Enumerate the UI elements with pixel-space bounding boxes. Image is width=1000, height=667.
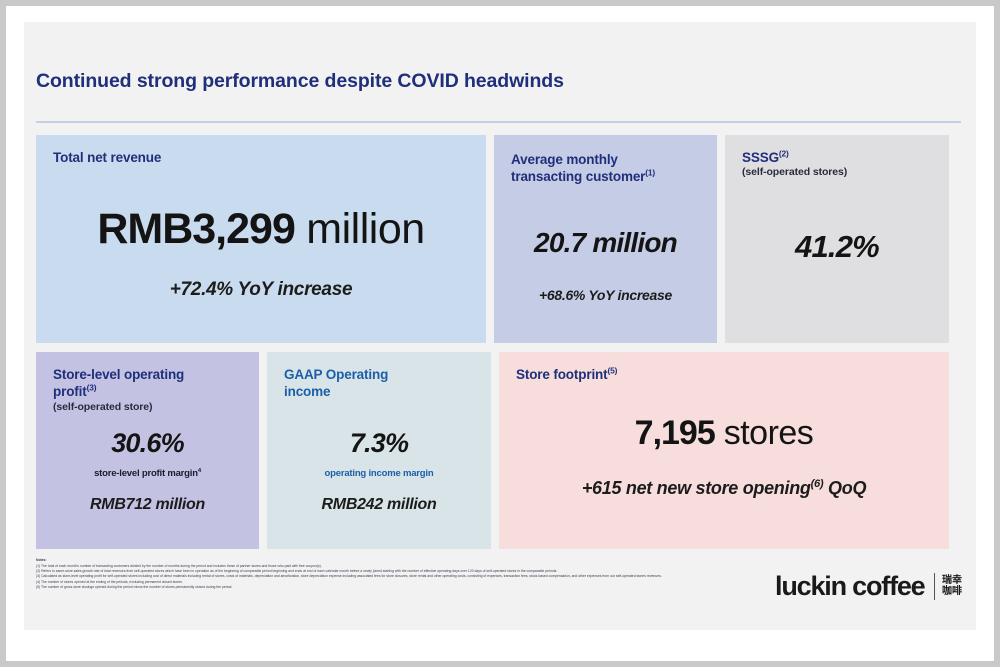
footnote-marker: 4 bbox=[198, 468, 201, 474]
footnote-item: (5) The number of gross store closings o… bbox=[36, 585, 736, 590]
logo-cn-char: 咖 bbox=[942, 587, 952, 598]
footnote-marker: (3) bbox=[87, 383, 97, 393]
metric-card-store-footprint: Store footprint(5) 7,195 stores +615 net… bbox=[499, 352, 949, 549]
metric-value-monthly-transacting-customer: 20.7 million bbox=[494, 227, 717, 259]
page-title: Continued strong performance despite COV… bbox=[36, 70, 564, 93]
card-label-line1: Average monthly bbox=[511, 152, 618, 167]
card-label-line2: profit bbox=[53, 384, 87, 399]
footnote-marker: (5) bbox=[608, 366, 618, 376]
metric-card-total-net-revenue: Total net revenue RMB3,299 million +72.4… bbox=[36, 135, 486, 343]
logo-cn-char: 瑞 bbox=[942, 576, 952, 587]
screenshot-root: Continued strong performance despite COV… bbox=[0, 0, 1000, 667]
metric-subnote-monthly-transacting-customer: +68.6% YoY increase bbox=[494, 287, 717, 303]
metric-card-sssg: SSSG(2) (self-operated stores) 41.2% bbox=[725, 135, 949, 343]
card-label-total-net-revenue: Total net revenue bbox=[53, 149, 161, 166]
document-page: Continued strong performance despite COV… bbox=[6, 6, 994, 661]
metric-number: 7,195 bbox=[635, 414, 715, 452]
margin-note-text: store-level profit margin bbox=[94, 468, 198, 479]
subnote-text-pre: +615 net new store opening bbox=[582, 478, 811, 498]
card-label-store-level-operating-profit: Store-level operating profit(3) (self-op… bbox=[53, 366, 184, 414]
footnote-item: (3) Calculated as store-level operating … bbox=[36, 574, 736, 579]
footnote-marker: (2) bbox=[779, 149, 789, 159]
card-label-monthly-transacting-customer: Average monthly transacting customer(1) bbox=[511, 151, 655, 186]
metric-value-total-net-revenue: RMB3,299 million bbox=[36, 205, 486, 254]
logo-wordmark: luckin coffee bbox=[775, 573, 924, 600]
metric-subnote-store-footprint: +615 net new store opening(6) QoQ bbox=[499, 478, 949, 499]
logo-chinese-characters: 瑞 幸 咖 啡 bbox=[942, 576, 962, 597]
card-label-text: SSSG bbox=[742, 150, 779, 165]
subnote-text-post: QoQ bbox=[823, 478, 866, 498]
metric-margin-note-gaap: operating income margin bbox=[267, 468, 491, 479]
metric-unit: stores bbox=[715, 414, 814, 452]
metric-number: RMB3,299 bbox=[97, 205, 295, 253]
card-label-sssg: SSSG(2) (self-operated stores) bbox=[742, 149, 847, 180]
card-label-line1: Store-level operating bbox=[53, 367, 184, 382]
card-label-line2: income bbox=[284, 384, 330, 399]
presentation-slide: Continued strong performance despite COV… bbox=[24, 22, 976, 630]
metric-value-gaap-operating-income: 7.3% bbox=[267, 428, 491, 459]
metric-margin-note-store-level: store-level profit margin4 bbox=[36, 468, 259, 479]
metric-value-store-footprint: 7,195 stores bbox=[499, 414, 949, 453]
metric-unit: million bbox=[295, 205, 425, 253]
metric-card-gaap-operating-income: GAAP Operating income 7.3% operating inc… bbox=[267, 352, 491, 549]
footnotes-heading: Notes: bbox=[36, 558, 736, 563]
metric-card-monthly-transacting-customer: Average monthly transacting customer(1) … bbox=[494, 135, 717, 343]
card-label-line2: transacting customer bbox=[511, 169, 645, 184]
card-sublabel-sssg: (self-operated stores) bbox=[742, 166, 847, 179]
card-label-line1: GAAP Operating bbox=[284, 367, 388, 382]
footnote-marker: (6) bbox=[811, 478, 824, 490]
metric-subnote-total-net-revenue: +72.4% YoY increase bbox=[36, 279, 486, 301]
metric-card-store-level-operating-profit: Store-level operating profit(3) (self-op… bbox=[36, 352, 259, 549]
metric-subnote-gaap-operating-income: RMB242 million bbox=[267, 496, 491, 514]
logo-divider bbox=[934, 573, 936, 600]
card-label-gaap-operating-income: GAAP Operating income bbox=[284, 366, 388, 401]
footnotes-block: Notes: (1) The total of each month's num… bbox=[36, 558, 736, 590]
footnote-marker: (1) bbox=[645, 168, 655, 178]
card-label-store-footprint: Store footprint(5) bbox=[516, 366, 617, 383]
title-divider bbox=[36, 121, 961, 123]
card-label-text: Store footprint bbox=[516, 367, 608, 382]
metric-subnote-store-level-operating-profit: RMB712 million bbox=[36, 496, 259, 514]
logo-cn-char: 幸 bbox=[952, 576, 962, 587]
logo-cn-char: 啡 bbox=[952, 587, 962, 598]
card-sublabel-store-level-operating-profit: (self-operated store) bbox=[53, 401, 184, 414]
luckin-coffee-logo: luckin coffee 瑞 幸 咖 啡 bbox=[775, 573, 962, 600]
metric-value-sssg: 41.2% bbox=[725, 229, 949, 265]
metric-value-store-level-operating-profit: 30.6% bbox=[36, 428, 259, 459]
